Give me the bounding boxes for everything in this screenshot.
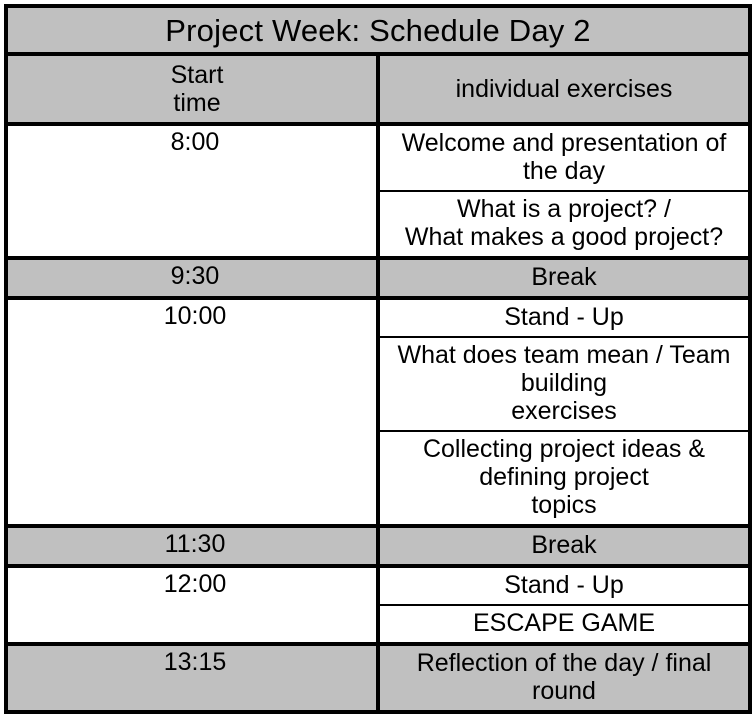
activity-line: Break	[531, 531, 596, 559]
activity-line: Break	[531, 263, 596, 291]
activity-line: topics	[531, 491, 596, 519]
start-time-cell: 11:30	[6, 526, 378, 566]
title-row: Project Week: Schedule Day 2	[6, 6, 750, 54]
start-time-cell: 10:00	[6, 298, 378, 526]
activity-cell: Break	[378, 258, 750, 298]
schedule-container: Project Week: Schedule Day 2 Start time …	[4, 4, 752, 585]
column-header-start-time-line2: time	[173, 89, 220, 117]
start-time-cell: 12:00	[6, 566, 378, 644]
activity-cell: What does team mean / Team buildingexerc…	[378, 337, 750, 431]
table-row: 13:15Reflection of the day / final round	[6, 644, 750, 712]
activity-cell: Reflection of the day / final round	[378, 644, 750, 712]
table-row: 12:00Stand - Up	[6, 566, 750, 605]
activity-line: Collecting project ideas & defining proj…	[423, 435, 705, 491]
column-header-start-time-line1: Start	[171, 61, 224, 89]
activity-line: Stand - Up	[504, 303, 624, 331]
activity-line: What is a project? /	[457, 195, 671, 223]
start-time-cell: 13:15	[6, 644, 378, 712]
start-time-cell: 9:30	[6, 258, 378, 298]
table-row: 9:30Break	[6, 258, 750, 298]
schedule-table: Project Week: Schedule Day 2 Start time …	[4, 4, 752, 714]
activity-cell: What is a project? /What makes a good pr…	[378, 191, 750, 258]
start-time-cell: 8:00	[6, 124, 378, 258]
activity-line: What makes a good project?	[405, 223, 723, 251]
activity-line: Stand - Up	[504, 571, 624, 599]
activity-cell: Welcome and presentation of the day	[378, 124, 750, 191]
activity-line: What does team mean / Team building	[397, 341, 730, 397]
table-row: 11:30Break	[6, 526, 750, 566]
header-row: Start time individual exercises	[6, 54, 750, 124]
activity-line: Welcome and presentation of the day	[402, 129, 727, 185]
activity-cell: Stand - Up	[378, 566, 750, 605]
activity-cell: ESCAPE GAME	[378, 605, 750, 644]
column-header-start-time: Start time	[6, 54, 378, 124]
activity-cell: Collecting project ideas & defining proj…	[378, 431, 750, 526]
activity-line: exercises	[511, 397, 617, 425]
activity-line: Reflection of the day / final round	[417, 649, 712, 705]
activity-cell: Break	[378, 526, 750, 566]
table-row: 8:00Welcome and presentation of the day	[6, 124, 750, 191]
table-row: 10:00Stand - Up	[6, 298, 750, 337]
column-header-activity: individual exercises	[378, 54, 750, 124]
activity-cell: Stand - Up	[378, 298, 750, 337]
page-title: Project Week: Schedule Day 2	[6, 6, 750, 54]
activity-line: ESCAPE GAME	[473, 609, 655, 637]
schedule-table-body: Project Week: Schedule Day 2 Start time …	[6, 6, 750, 712]
